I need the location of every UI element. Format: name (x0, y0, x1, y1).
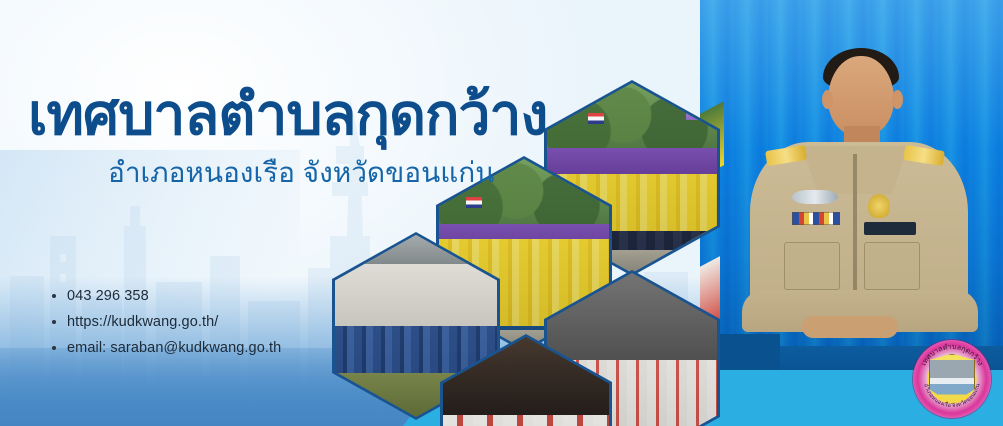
list-item: 043 296 358 (52, 288, 281, 304)
shirt-pocket-left (784, 242, 840, 290)
contact-list: 043 296 358 https://kudkwang.go.th/ emai… (52, 288, 281, 366)
ribbon-bar-icon (792, 212, 840, 225)
head (828, 56, 894, 136)
ear-right (892, 90, 903, 109)
page-title: เทศบาลตำบลกุดกว้าง (28, 86, 628, 146)
contact-website[interactable]: https://kudkwang.go.th/ (67, 314, 218, 330)
list-item: email: saraban@kudkwang.go.th (52, 340, 281, 356)
ear-left (822, 90, 833, 109)
contact-phone: 043 296 358 (67, 288, 149, 304)
municipality-seal[interactable]: เทศบาลตำบลกุดกว้าง อำเภอหนองเรือ จังหวัด… (913, 340, 991, 418)
wing-badge-icon (792, 190, 838, 204)
name-tag (864, 222, 916, 235)
bullet-icon (52, 320, 56, 324)
bullet-icon (52, 294, 56, 298)
bullet-icon (52, 346, 56, 350)
municipality-banner: เทศบาลตำบลกุดกว้าง อำเภอหนองเรือ จังหวัด… (0, 0, 1003, 426)
officer-figure (740, 54, 970, 354)
hands (802, 316, 898, 338)
crest-icon (868, 194, 890, 218)
title-block: เทศบาลตำบลกุดกว้าง อำเภอหนองเรือ จังหวัด… (28, 86, 628, 189)
contact-email[interactable]: email: saraban@kudkwang.go.th (67, 340, 281, 356)
shirt-pocket-right (864, 242, 920, 290)
page-subtitle: อำเภอหนองเรือ จังหวัดขอนแก่น (108, 156, 628, 190)
list-item: https://kudkwang.go.th/ (52, 314, 281, 330)
